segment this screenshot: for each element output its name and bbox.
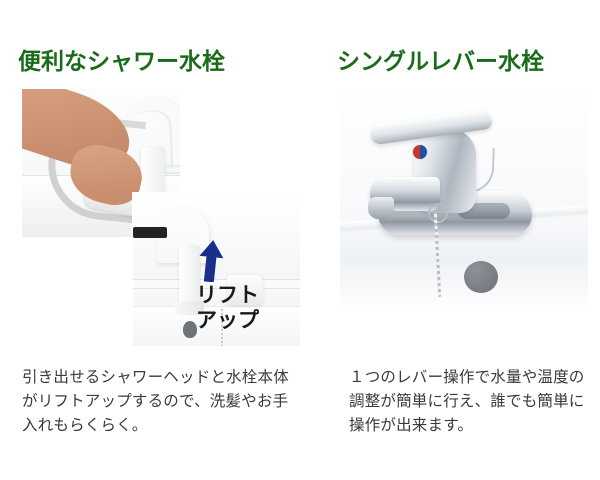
counter-surface: [340, 222, 588, 313]
drain-plug: [464, 261, 498, 293]
faucet-spout-tip: [368, 197, 394, 219]
black-clip: [133, 227, 167, 238]
chain-ring: [428, 203, 448, 223]
right-description-text: １つのレバー操作で水量や温度の調整が簡単に行え、誰でも簡単に操作が出来ます。: [349, 366, 587, 438]
right-panel: シングルレバー水栓 １つのレバー操作で水量や温度の調整が簡単に行え、誰でも簡単に…: [320, 0, 600, 480]
arrow-up-icon: [198, 240, 224, 282]
lift-up-line-1: リフト: [196, 284, 259, 309]
left-panel-heading: 便利なシャワー水栓: [18, 42, 225, 76]
temperature-indicator-icon: [413, 145, 427, 159]
lift-up-line-2: アップ: [196, 309, 259, 334]
lift-up-overlay-label: リフト アップ: [196, 284, 259, 334]
left-description-text: 引き出せるシャワーヘッドと水栓本体がリフトアップするので、洗髪やお手入れもらくら…: [22, 366, 294, 438]
single-lever-faucet-photo: [340, 85, 588, 313]
right-panel-heading: シングルレバー水栓: [337, 42, 544, 76]
left-panel: 便利なシャワー水栓: [0, 0, 320, 480]
faucet-spout-body: [141, 147, 165, 197]
left-panel-description: 引き出せるシャワーヘッドと水栓本体がリフトアップするので、洗髪やお手入れもらくら…: [22, 366, 294, 438]
page-root: 便利なシャワー水栓: [0, 0, 600, 480]
right-panel-description: １つのレバー操作で水量や温度の調整が簡単に行え、誰でも簡単に操作が出来ます。: [349, 366, 587, 438]
drain-plug: [183, 321, 197, 338]
